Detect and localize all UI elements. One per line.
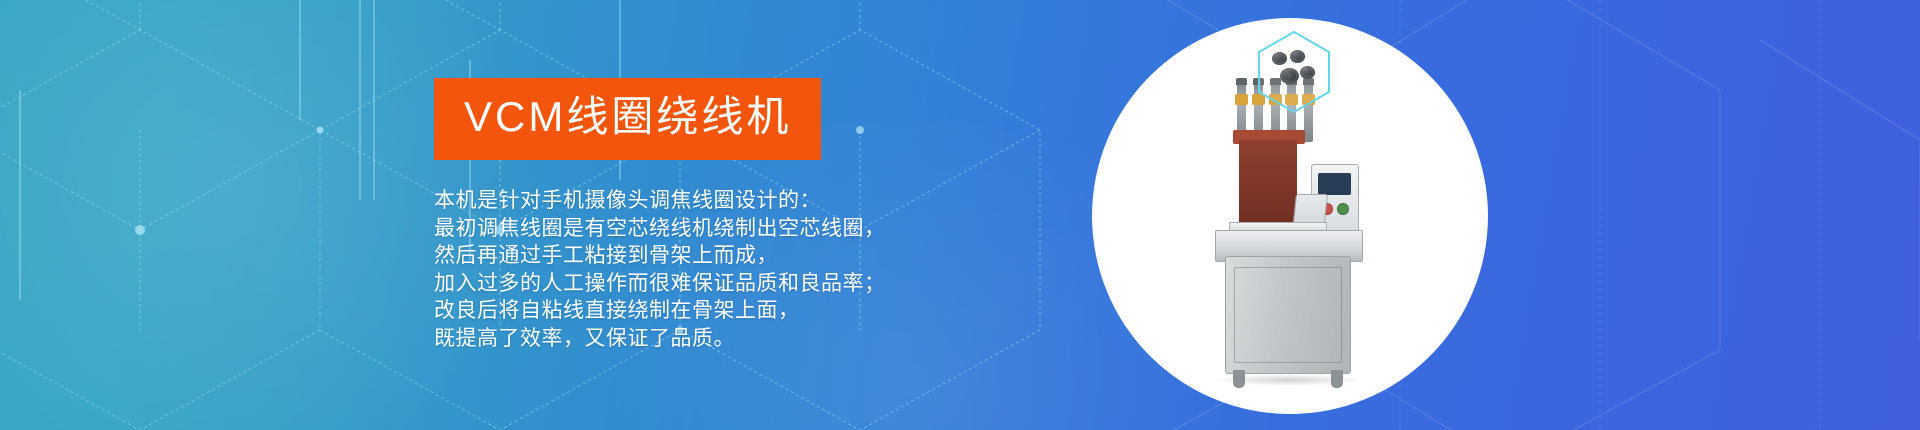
- description-line: 最初调焦线圈是有空芯绕线机绕制出空芯线圈，: [434, 215, 886, 243]
- product-banner: VCM线圈绕线机 本机是针对手机摄像头调焦线圈设计的： 最初调焦线圈是有空芯绕线…: [0, 0, 1920, 430]
- description-block: 本机是针对手机摄像头调焦线圈设计的： 最初调焦线圈是有空芯绕线机绕制出空芯线圈，…: [434, 187, 886, 352]
- wire-pattern-svg: [0, 0, 1920, 430]
- description-line: 然后再通过手工粘接到骨架上而成，: [434, 242, 886, 270]
- coil-sample: [1280, 68, 1299, 84]
- geometric-wire-pattern: [0, 0, 1920, 430]
- coil-sample: [1290, 50, 1305, 63]
- description-line: 本机是针对手机摄像头调焦线圈设计的：: [434, 187, 886, 215]
- description-line: 改良后将自粘线直接绕制在骨架上面，: [434, 297, 886, 325]
- title-badge: VCM线圈绕线机: [434, 78, 821, 160]
- panel-knob-green: [1337, 203, 1349, 215]
- description-line: 既提高了效率，又保证了品质。: [434, 325, 886, 353]
- coil-sample: [1300, 66, 1315, 79]
- machine-cabinet: [1225, 256, 1351, 374]
- coil-samples-image: [1270, 50, 1318, 94]
- coil-sample-badge: [1256, 30, 1332, 114]
- page-title: VCM线圈绕线机: [464, 96, 791, 138]
- description-line: 加入过多的人工操作而很难保证品质和良品率；: [434, 270, 886, 298]
- panel-screen: [1318, 173, 1351, 195]
- coil-sample: [1272, 52, 1287, 65]
- machine-shadow: [1213, 374, 1365, 386]
